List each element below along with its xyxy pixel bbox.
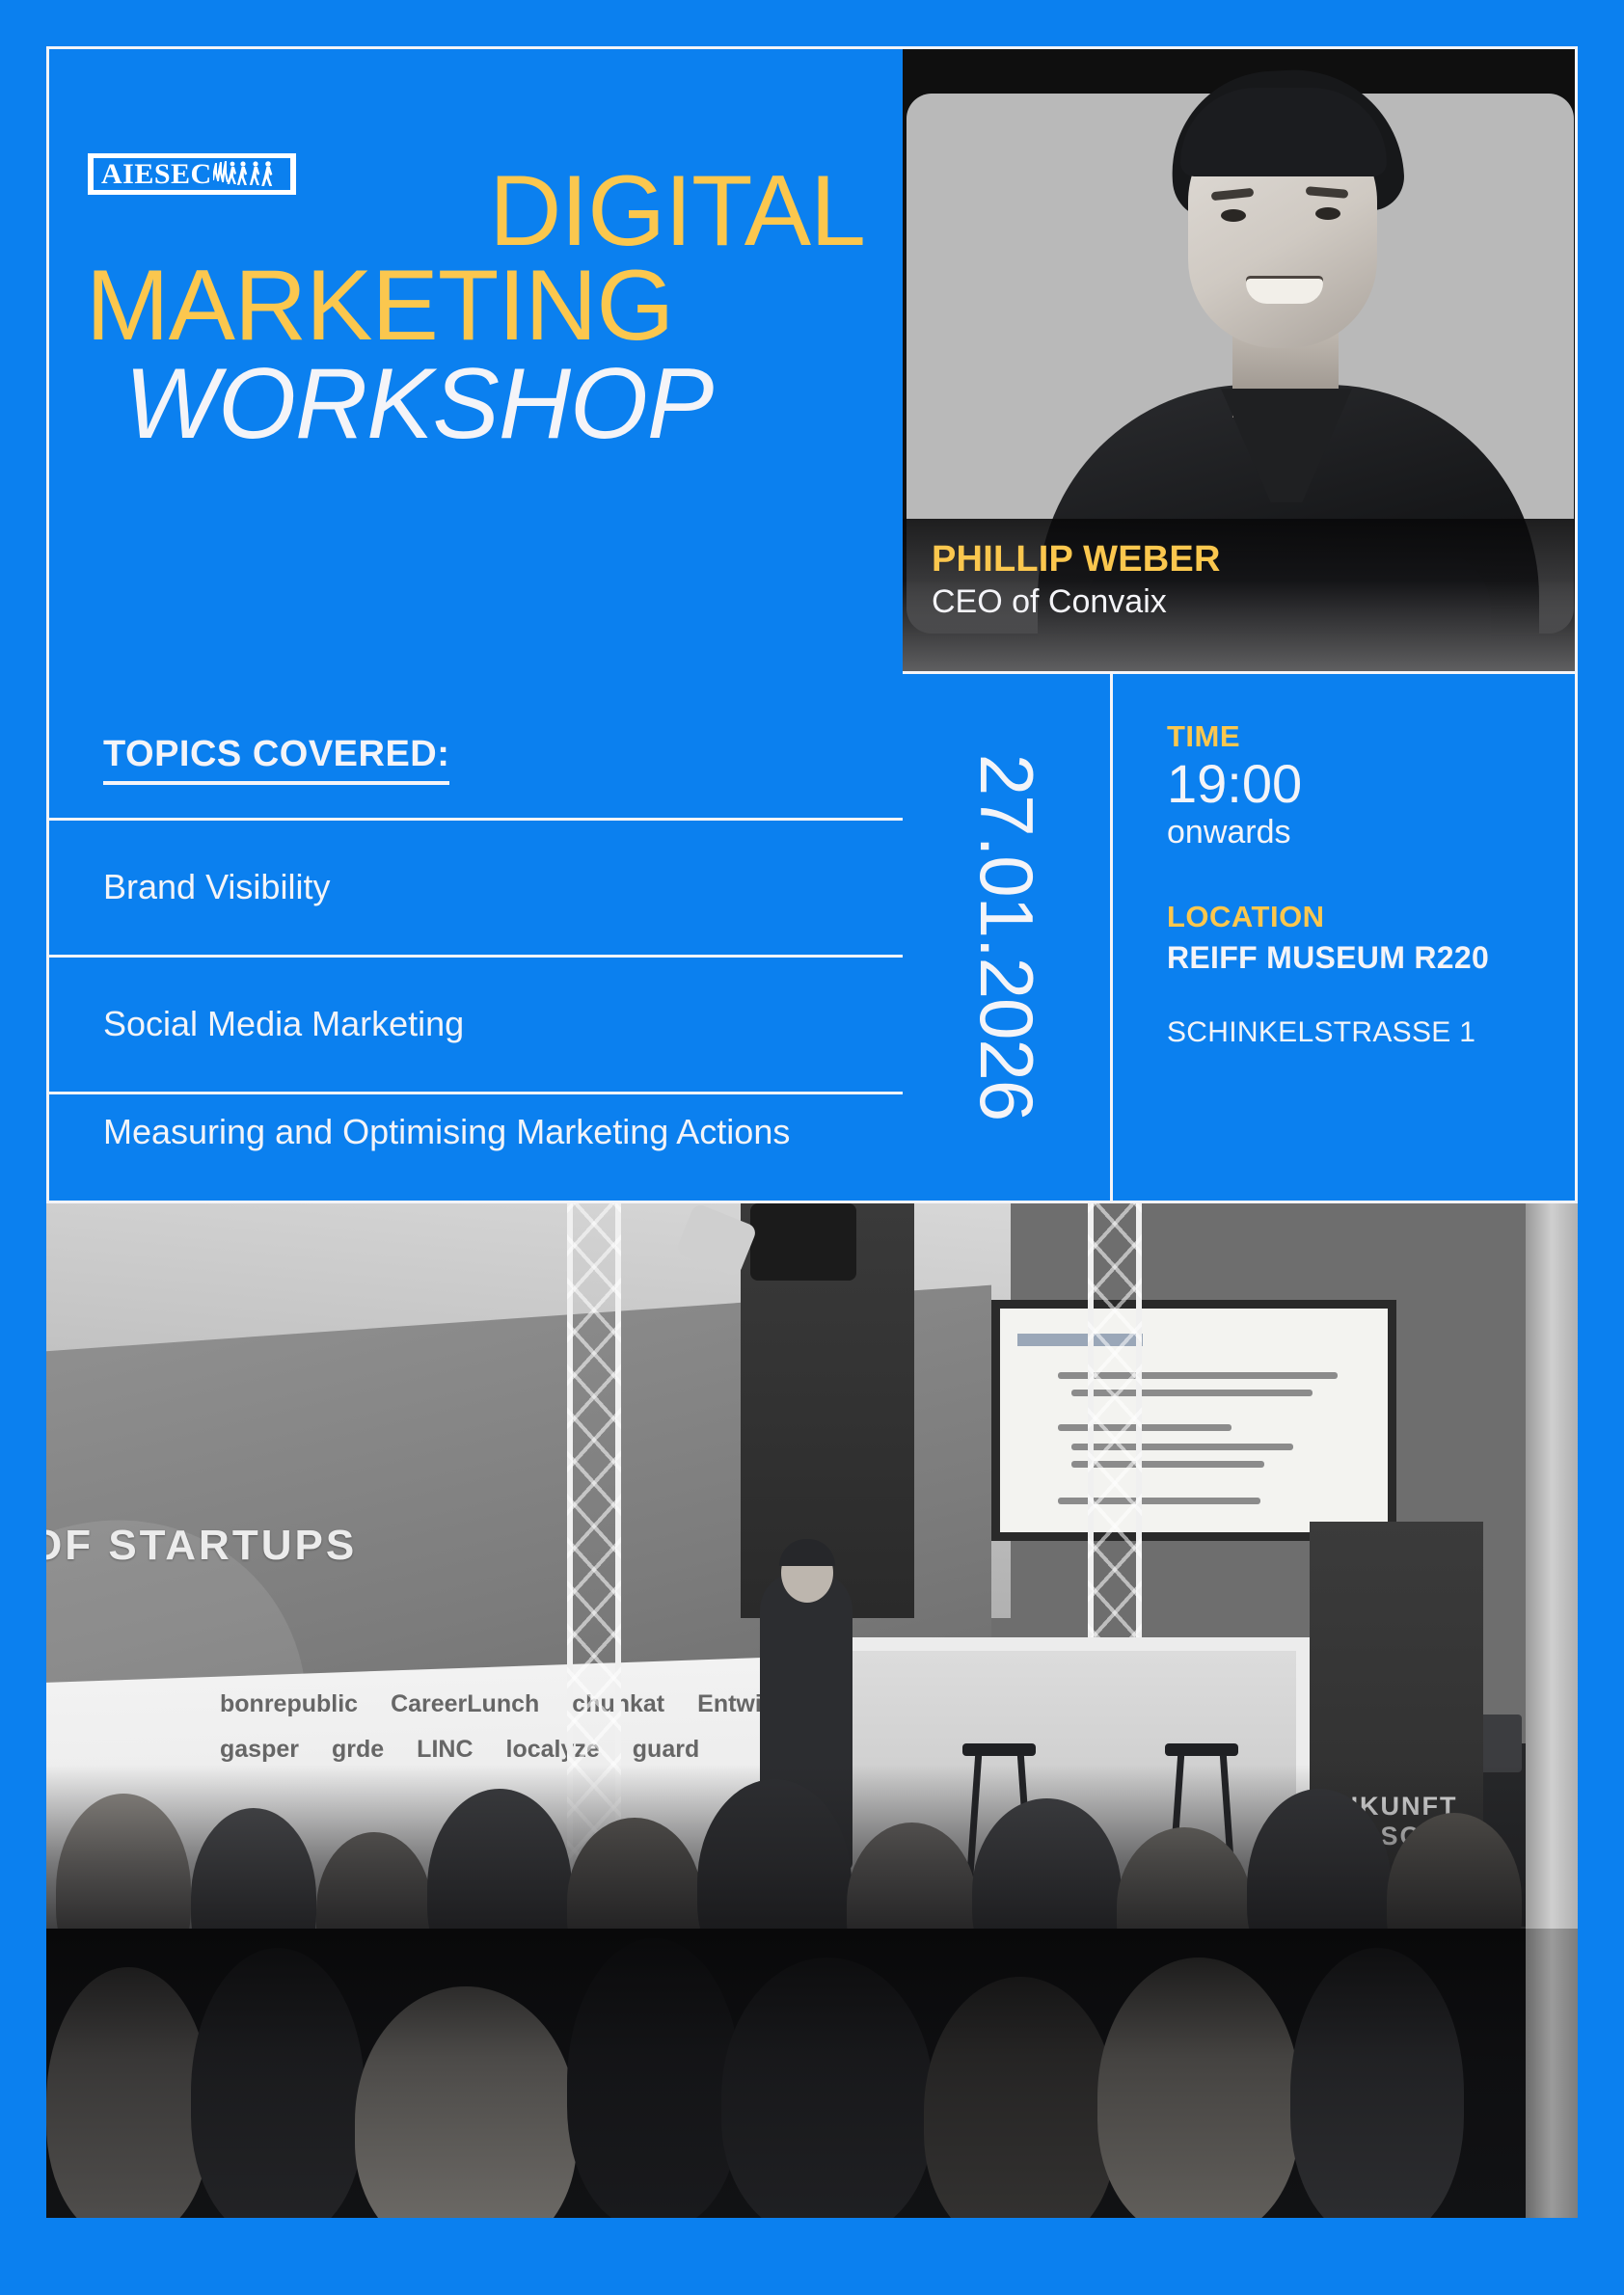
title-line-digital: DIGITAL [74,165,894,258]
photo-audience-foreground [46,1726,1578,1929]
title-line-workshop: WORKSHOP [74,354,894,454]
event-date-cell: 27.01.2026 [903,674,1113,1201]
event-info-cell: TIME 19:00 onwards LOCATION REIFF MUSEUM… [1113,674,1575,1201]
speaker-portrait-photo: PHILLIP WEBER CEO of Convaix [903,46,1578,671]
photo-crowd-shadow [46,1765,1578,1929]
event-stage-photo: OF STARTUPS bonrepublic CareerLunch chun… [46,1203,1578,1929]
event-details: 27.01.2026 TIME 19:00 onwards LOCATION R… [903,671,1578,1203]
location-venue: REIFF MUSEUM R220 [1167,938,1575,979]
topics-list: Brand Visibility Social Media Marketing … [49,818,903,1205]
portrait-smile [1246,279,1323,304]
audience-right-column-wall [1526,1929,1578,2218]
topic-item-brand-visibility: Brand Visibility [49,818,903,955]
speaker-name: PHILLIP WEBER [932,540,1578,580]
topic-label: Social Media Marketing [103,1002,464,1046]
screen-slide-line [1058,1424,1232,1431]
title-line-marketing: MARKETING [74,258,894,354]
poster-top-zone: AIESEC [46,46,1578,1203]
time-label: TIME [1167,718,1575,754]
audience-photo [46,1929,1578,2218]
time-value: 19:00 [1167,756,1575,813]
speaker-role: CEO of Convaix [932,582,1578,622]
hero-panel: AIESEC [46,46,903,1203]
audience-photo-shadow [46,1929,1578,2218]
poster-canvas: AIESEC [0,0,1624,2295]
sponsor-logo: CareerLunch [391,1690,539,1718]
photo-banner-text: OF STARTUPS [46,1522,357,1570]
poster-title: DIGITAL MARKETING WORKSHOP [74,165,894,454]
location-street: SCHINKELSTRASSE 1 [1167,1013,1575,1051]
location-label: LOCATION [1167,899,1575,934]
topic-item-measuring-optimising: Measuring and Optimising Marketing Actio… [49,1092,903,1205]
portrait-eye-left [1221,209,1246,222]
photo-light-housing [750,1203,856,1281]
time-note: onwards [1167,813,1575,852]
right-column: PHILLIP WEBER CEO of Convaix 27.01.2026 … [903,46,1578,1203]
portrait-eye-right [1315,207,1340,220]
topic-label: Brand Visibility [103,865,330,909]
topic-item-social-media-marketing: Social Media Marketing [49,955,903,1092]
speaker-caption: PHILLIP WEBER CEO of Convaix [903,519,1578,671]
photo-presentation-screen [991,1300,1396,1541]
event-date: 27.01.2026 [969,754,1044,1120]
topics-covered-heading: TOPICS COVERED: [103,734,449,785]
sponsor-logo: bonrepublic [220,1690,358,1718]
photo-right-column-wall [1526,1203,1578,1929]
topic-label: Measuring and Optimising Marketing Actio… [103,1110,790,1154]
